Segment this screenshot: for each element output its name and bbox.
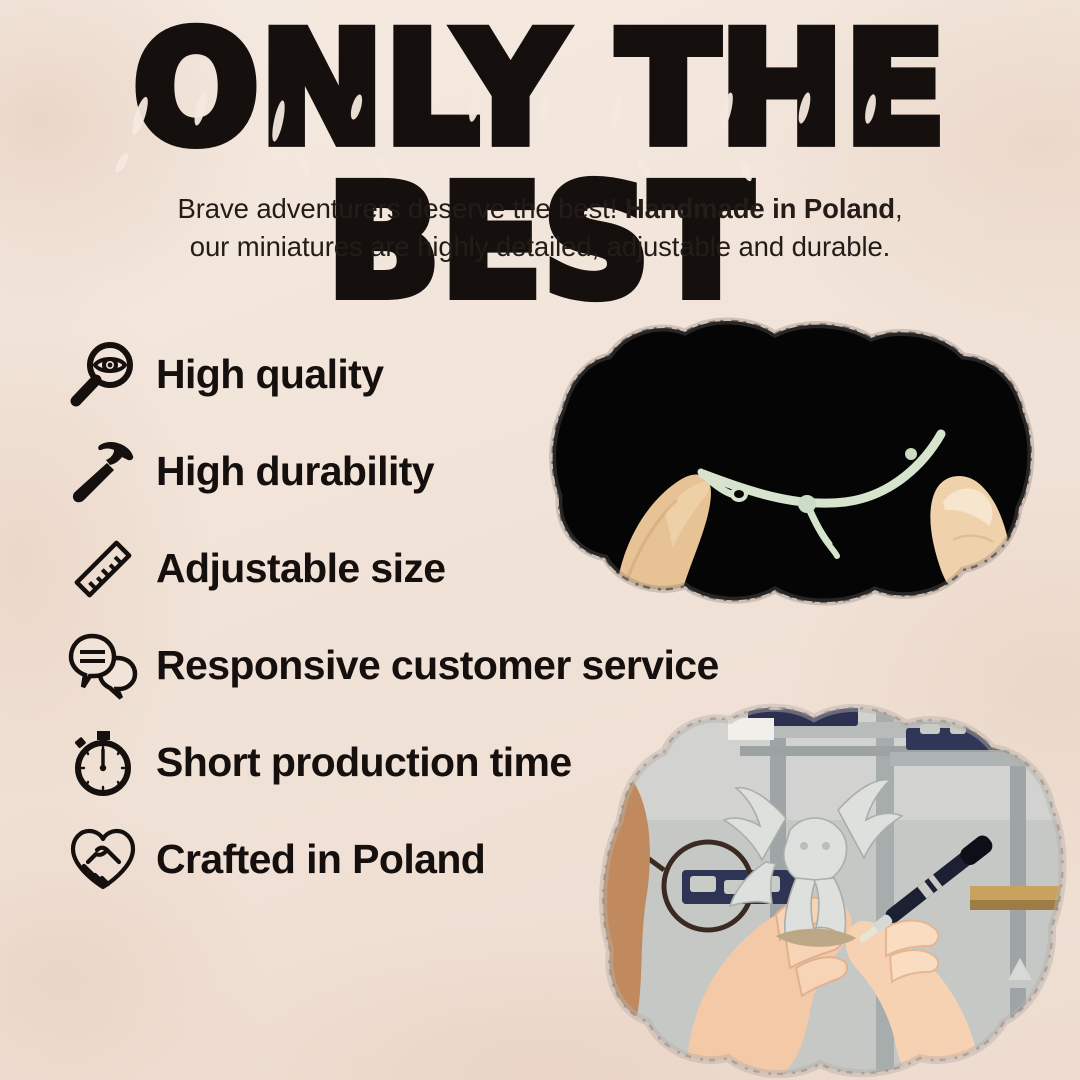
speech-bubbles-icon bbox=[64, 627, 142, 705]
feature-label: Short production time bbox=[156, 741, 572, 784]
subtitle-bold: Handmade in Poland bbox=[625, 193, 895, 224]
page-title: ONLY THE BEST bbox=[0, 13, 1080, 319]
feature-label: Adjustable size bbox=[156, 547, 445, 590]
feature-label: Crafted in Poland bbox=[156, 838, 485, 881]
subtitle: Brave adventurers deserve the best! Hand… bbox=[95, 190, 985, 266]
feature-label: High quality bbox=[156, 353, 383, 396]
subtitle-tail: , bbox=[895, 193, 903, 224]
photo-workshop-hands bbox=[590, 700, 1080, 1080]
heart-handshake-icon bbox=[64, 821, 142, 899]
feature-label: High durability bbox=[156, 450, 434, 493]
photo-miniature-flex bbox=[545, 312, 1045, 612]
subtitle-line-2: our miniatures are highly detailed, adju… bbox=[190, 231, 890, 262]
ruler-icon bbox=[64, 530, 142, 608]
feature-label: Responsive customer service bbox=[156, 644, 719, 687]
promo-poster: ONLY THE BEST Brave adventurers deserve … bbox=[0, 0, 1080, 1080]
hammer-icon bbox=[64, 433, 142, 511]
stopwatch-icon bbox=[64, 724, 142, 802]
subtitle-lead: Brave adventurers deserve the best! bbox=[177, 193, 624, 224]
magnifier-eye-icon bbox=[64, 336, 142, 414]
